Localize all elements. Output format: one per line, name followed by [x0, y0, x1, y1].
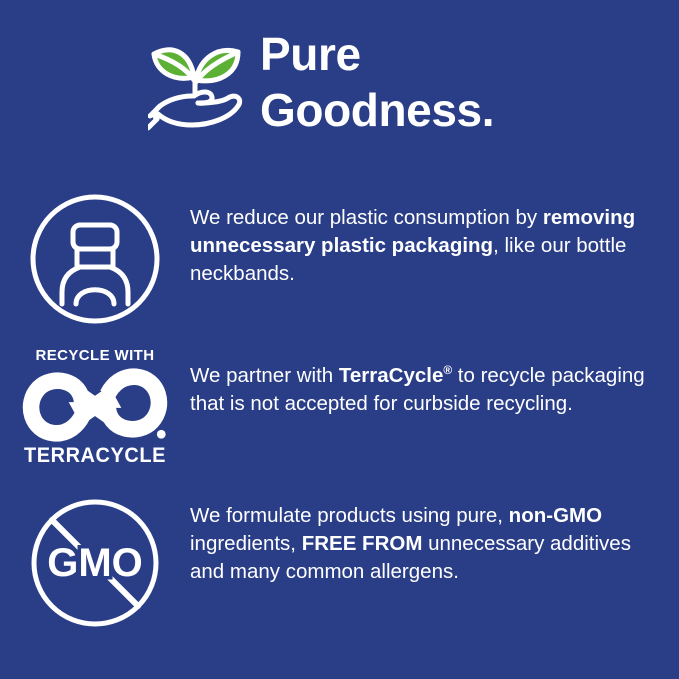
- terracycle-top-label: RECYCLE WITH: [20, 348, 170, 363]
- no-gmo-circle-icon: GMO: [28, 496, 162, 630]
- page-title: Pure Goodness.: [260, 26, 494, 138]
- feature-icon-slot: [0, 188, 190, 326]
- feature-row-terracycle: RECYCLE WITH TERRACYCLE We par: [0, 344, 679, 466]
- bottle-neckband-circle-icon: [28, 192, 162, 326]
- feature-text-segment: We partner with: [190, 364, 339, 387]
- feature-text-segment: ingredients,: [190, 532, 302, 555]
- feature-text-segment-bold: TerraCycle: [339, 364, 443, 387]
- feature-text-segment-bold: FREE FROM: [302, 532, 423, 555]
- feature-text-segment: We reduce our plastic consumption by: [190, 206, 543, 229]
- terracycle-logo: RECYCLE WITH TERRACYCLE: [20, 348, 170, 466]
- feature-text-plastic-reduction: We reduce our plastic consumption by rem…: [190, 188, 679, 288]
- feature-text-segment-bold: non-GMO: [509, 504, 602, 527]
- feature-text-segment: We formulate products using pure,: [190, 504, 509, 527]
- header: Pure Goodness.: [0, 24, 679, 154]
- no-gmo-label: GMO: [47, 541, 143, 585]
- hand-holding-sprout-icon: [148, 32, 248, 142]
- feature-text-terracycle: We partner with TerraCycle® to recycle p…: [190, 344, 679, 418]
- feature-icon-slot: GMO: [0, 492, 190, 630]
- feature-row-plastic-reduction: We reduce our plastic consumption by rem…: [0, 188, 679, 326]
- feature-row-non-gmo: GMO We formulate products using pure, no…: [0, 492, 679, 630]
- feature-text-non-gmo: We formulate products using pure, non-GM…: [190, 492, 679, 586]
- pure-goodness-infographic: Pure Goodness. We reduce our plastic c: [0, 0, 679, 679]
- registered-mark: ®: [443, 363, 452, 377]
- terracycle-loop-icon: [21, 367, 169, 443]
- feature-icon-slot: RECYCLE WITH TERRACYCLE: [0, 344, 190, 466]
- terracycle-bottom-label: TERRACYCLE: [24, 445, 167, 466]
